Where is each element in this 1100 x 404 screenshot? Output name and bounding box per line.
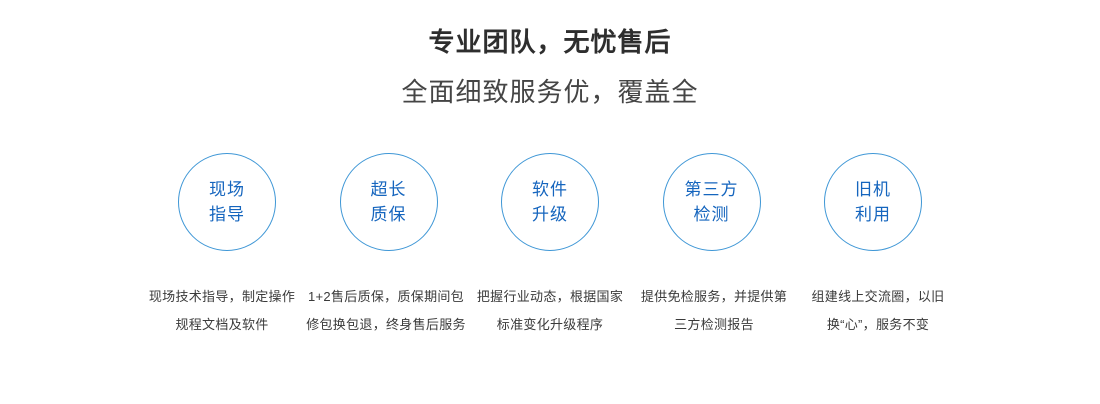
heading-block: 专业团队，无忧售后 全面细致服务优，覆盖全 <box>0 26 1100 108</box>
feature-badge-line-5a: 旧机 <box>855 177 891 202</box>
feature-caption-line-4b: 三方检测报告 <box>634 311 794 339</box>
page-subtitle: 全面细致服务优，覆盖全 <box>0 58 1100 108</box>
feature-caption-line-5a: 组建线上交流圈，以旧 <box>798 283 958 311</box>
feature-circle-badge-2[interactable]: 超长 质保 <box>340 153 438 251</box>
feature-badge-line-1a: 现场 <box>209 177 245 202</box>
feature-badge-line-3a: 软件 <box>532 177 568 202</box>
feature-circle-badge-4[interactable]: 第三方 检测 <box>663 153 761 251</box>
feature-captions-row: 现场技术指导，制定操作 规程文档及软件 1+2售后质保，质保期间包 修包换包退，… <box>142 283 958 339</box>
feature-caption-line-4a: 提供免检服务，并提供第 <box>634 283 794 311</box>
feature-caption-line-2b: 修包换包退，终身售后服务 <box>306 311 466 339</box>
feature-badge-line-2a: 超长 <box>371 177 407 202</box>
feature-item-2: 超长 质保 <box>312 153 466 251</box>
feature-badge-line-4a: 第三方 <box>685 177 739 202</box>
feature-caption-4: 提供免检服务，并提供第 三方检测报告 <box>634 283 794 339</box>
feature-badge-line-2b: 质保 <box>371 202 407 227</box>
feature-caption-1: 现场技术指导，制定操作 规程文档及软件 <box>142 283 302 339</box>
page-title: 专业团队，无忧售后 <box>0 26 1100 58</box>
feature-item-1: 现场 指导 <box>150 153 304 251</box>
feature-circle-badge-5[interactable]: 旧机 利用 <box>824 153 922 251</box>
feature-caption-3: 把握行业动态，根据国家 标准变化升级程序 <box>470 283 630 339</box>
feature-circle-badge-3[interactable]: 软件 升级 <box>501 153 599 251</box>
feature-circles-row: 现场 指导 超长 质保 软件 升级 第三方 检测 旧机 <box>150 153 950 253</box>
feature-circle-badge-1[interactable]: 现场 指导 <box>178 153 276 251</box>
feature-caption-line-1b: 规程文档及软件 <box>142 311 302 339</box>
feature-caption-line-1a: 现场技术指导，制定操作 <box>142 283 302 311</box>
feature-caption-line-2a: 1+2售后质保，质保期间包 <box>306 283 466 311</box>
feature-badge-line-3b: 升级 <box>532 202 568 227</box>
feature-item-4: 第三方 检测 <box>635 153 789 251</box>
feature-badge-line-1b: 指导 <box>209 202 245 227</box>
feature-caption-line-3a: 把握行业动态，根据国家 <box>470 283 630 311</box>
service-promo-banner: 专业团队，无忧售后 全面细致服务优，覆盖全 现场 指导 超长 质保 软件 升级 … <box>0 0 1100 404</box>
feature-caption-line-5b: 换“心”，服务不变 <box>798 311 958 339</box>
feature-badge-line-4b: 检测 <box>694 202 730 227</box>
feature-item-5: 旧机 利用 <box>796 153 950 251</box>
feature-caption-line-3b: 标准变化升级程序 <box>470 311 630 339</box>
feature-caption-2: 1+2售后质保，质保期间包 修包换包退，终身售后服务 <box>306 283 466 339</box>
feature-item-3: 软件 升级 <box>473 153 627 251</box>
feature-caption-5: 组建线上交流圈，以旧 换“心”，服务不变 <box>798 283 958 339</box>
feature-badge-line-5b: 利用 <box>855 202 891 227</box>
